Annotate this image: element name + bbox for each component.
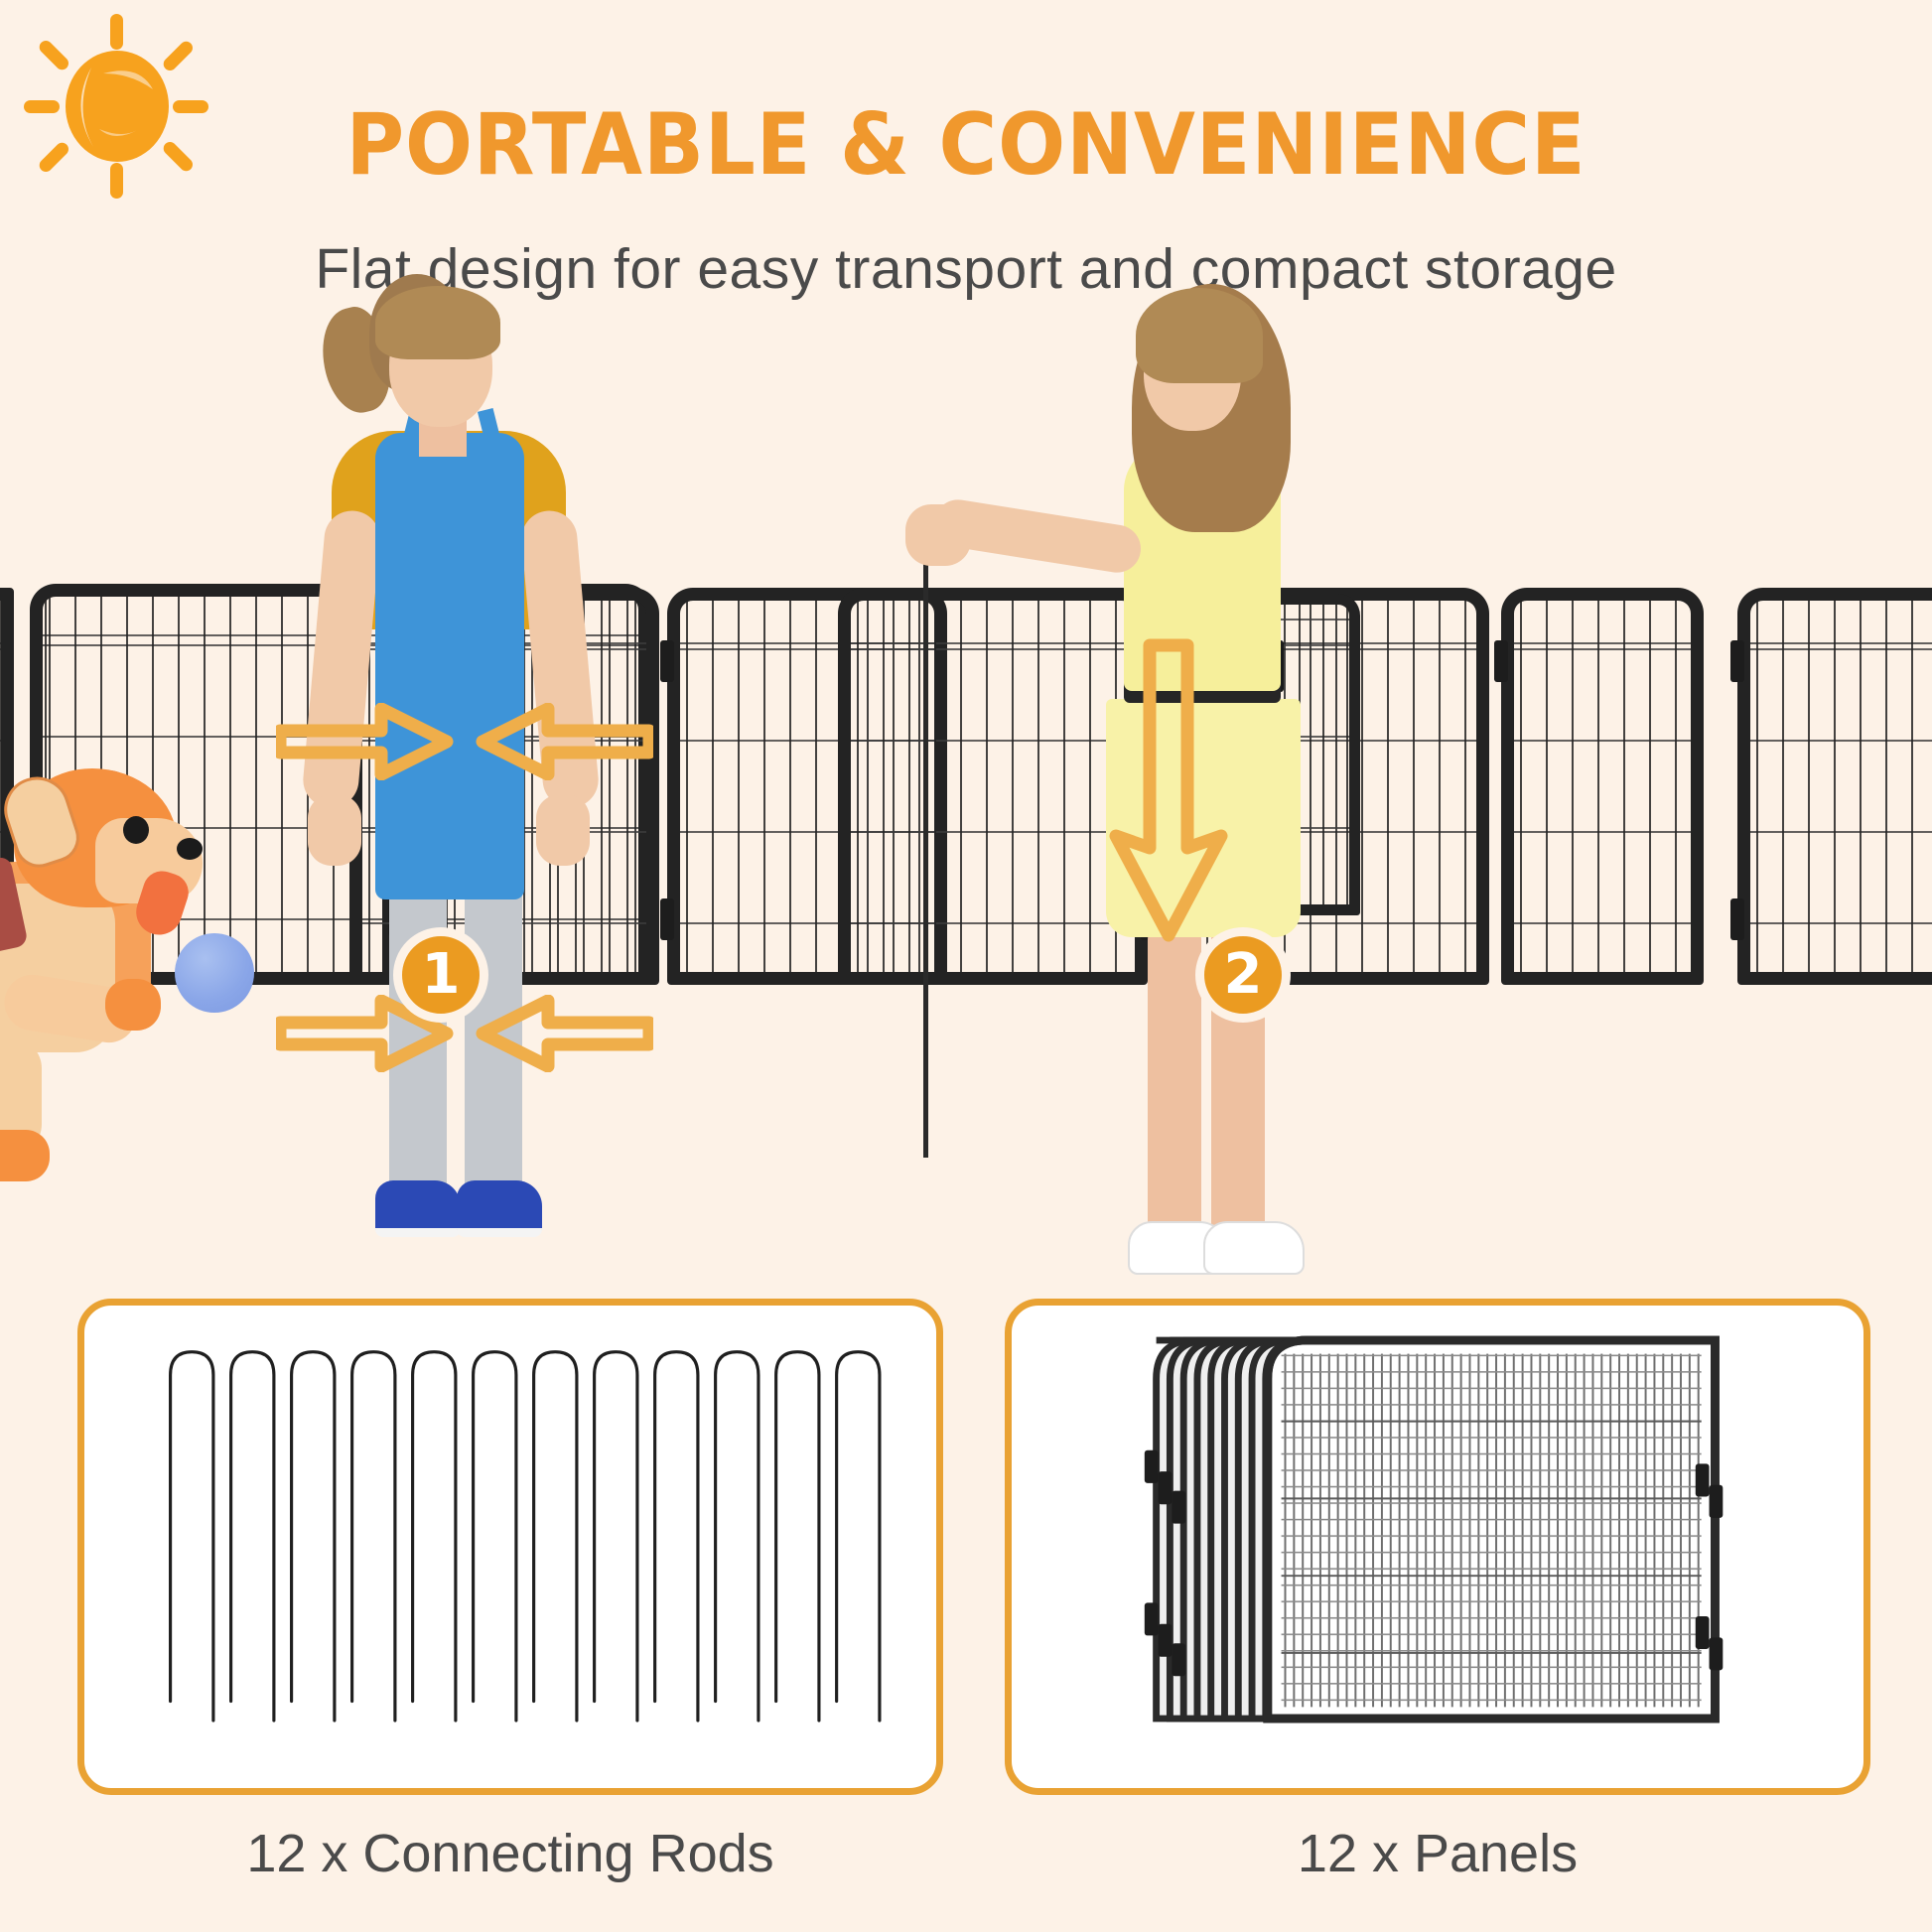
- hinge-icon: [660, 898, 674, 940]
- hair-top: [375, 286, 500, 359]
- arrow-down-icon: [1104, 637, 1233, 945]
- page-subtitle: Flat design for easy transport and compa…: [0, 236, 1932, 302]
- hand-left: [308, 794, 361, 866]
- fence-panel-7: [1501, 588, 1704, 985]
- arrow-left-lower-icon: [475, 995, 653, 1072]
- panels-caption: 12 x Panels: [1005, 1823, 1870, 1884]
- hand: [905, 504, 971, 566]
- connecting-rod-held: [923, 522, 928, 1158]
- hinge-icon: [1730, 640, 1744, 682]
- step-number-1: 1: [422, 947, 461, 1003]
- hinge-icon: [660, 640, 674, 682]
- header-section: PORTABLE & CONVENIENCE Flat design for e…: [0, 0, 1932, 328]
- stacked-panels-illustration: [1012, 1306, 1863, 1788]
- scene-section: 1 2: [0, 328, 1932, 1251]
- arrow-left-upper-icon: [475, 703, 653, 780]
- connecting-rods-caption: 12 x Connecting Rods: [77, 1823, 943, 1884]
- blue-apron: [375, 433, 524, 899]
- parts-list-section: 12 x Connecting Rods 12 x Panels: [0, 1279, 1932, 1932]
- connecting-rods-illustration: [84, 1306, 936, 1788]
- dog-nose: [177, 838, 203, 860]
- leg-left: [1148, 929, 1201, 1237]
- dog-paw-front-tip: [105, 979, 161, 1031]
- page-title: PORTABLE & CONVENIENCE: [68, 95, 1864, 195]
- hinge-icon: [1730, 898, 1744, 940]
- shoe-right: [1203, 1221, 1305, 1275]
- hair-front: [1136, 288, 1263, 383]
- dog-eye: [123, 816, 149, 844]
- dog-paw-rear-tip: [0, 1130, 50, 1181]
- hinge-icon: [1494, 640, 1508, 682]
- fence-panel-8: [1737, 588, 1932, 985]
- hand-right: [536, 794, 590, 866]
- panels-card: [1005, 1299, 1870, 1795]
- infographic-canvas: PORTABLE & CONVENIENCE Flat design for e…: [0, 0, 1932, 1932]
- step-number-2: 2: [1224, 947, 1263, 1003]
- step-badge-2: 2: [1195, 927, 1291, 1023]
- connecting-rods-card: [77, 1299, 943, 1795]
- shoe-right: [457, 1180, 542, 1237]
- arrow-right-upper-icon: [276, 703, 455, 780]
- step-badge-1: 1: [393, 927, 488, 1023]
- shoe-left: [375, 1180, 461, 1237]
- blue-ball: [175, 933, 254, 1013]
